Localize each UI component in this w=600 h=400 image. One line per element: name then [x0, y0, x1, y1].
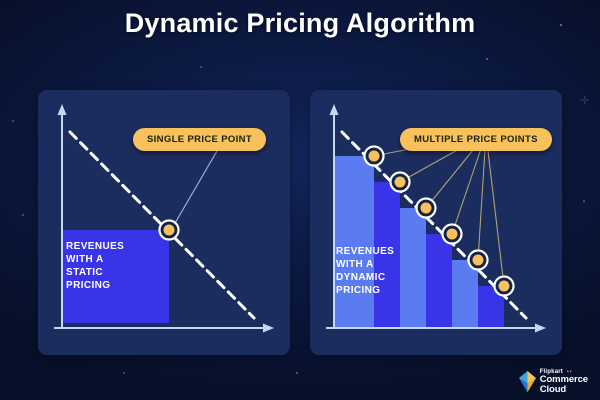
price-point-marker[interactable] — [495, 277, 514, 296]
connector-line — [171, 139, 224, 230]
logo-line2: Cloud — [540, 385, 588, 395]
page-title: Dynamic Pricing Algorithm — [0, 8, 600, 39]
revenue-label-static: REVENUES WITH A STATIC PRICING — [66, 240, 124, 292]
label-multiple-price-points[interactable]: MULTIPLE PRICE POINTS — [400, 128, 552, 151]
price-point-marker[interactable] — [160, 221, 179, 240]
y-axis-arrow — [330, 104, 339, 115]
plus-spark-icon: ✛ — [580, 96, 589, 107]
x-axis-arrow — [535, 324, 546, 333]
diamond-logo-icon — [519, 371, 536, 392]
flipkart-commerce-cloud-logo: Flipkart •• Commerce Cloud — [519, 369, 588, 394]
logo-wordmark: Flipkart •• Commerce Cloud — [540, 369, 588, 394]
label-single-price-point[interactable]: SINGLE PRICE POINT — [133, 128, 266, 151]
price-point-marker[interactable] — [443, 225, 462, 244]
price-point-marker[interactable] — [417, 199, 436, 218]
revenue-label-dynamic: REVENUES WITH A DYNAMIC PRICING — [336, 245, 394, 297]
price-point-marker[interactable] — [391, 173, 410, 192]
x-axis-arrow — [263, 324, 274, 333]
price-point-marker[interactable] — [469, 251, 488, 270]
revenue-step-1 — [334, 156, 374, 328]
y-axis-arrow — [58, 104, 67, 115]
price-point-marker[interactable] — [365, 147, 384, 166]
